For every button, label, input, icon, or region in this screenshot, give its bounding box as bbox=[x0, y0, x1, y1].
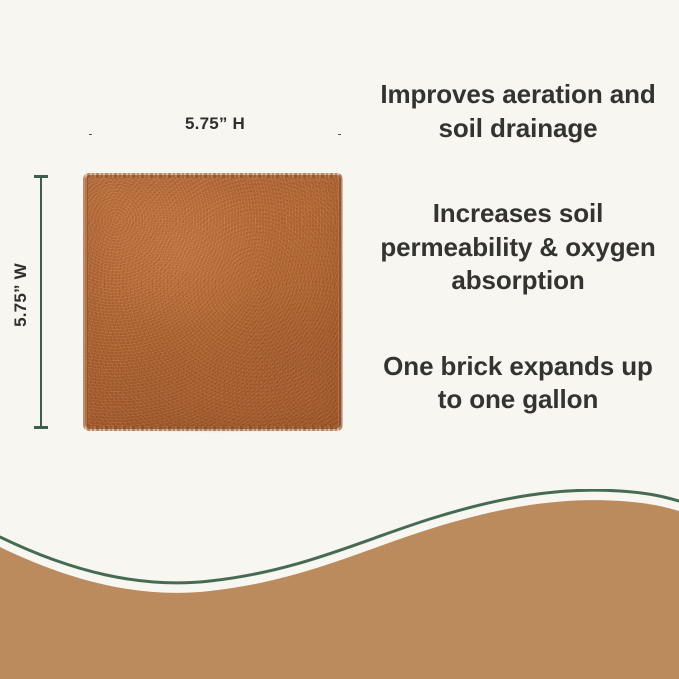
bottom-wave-divider bbox=[0, 489, 679, 679]
benefit-item-expansion-volume: One brick expands up to one gallon bbox=[368, 350, 668, 417]
benefit-item-aeration-drainage: Improves aeration and soil drainage bbox=[368, 78, 668, 145]
product-image-panel: 5.75” H 5.75” W bbox=[0, 0, 360, 520]
benefit-item-permeability-oxygen: Increases soil permeability & oxygen abs… bbox=[368, 197, 668, 298]
vertical-dimension-cap-top bbox=[34, 175, 48, 178]
vertical-dimension-label-text: 5.75” W bbox=[11, 254, 30, 336]
wave-fill-shape bbox=[0, 500, 679, 679]
vertical-dimension-label: 5.75” W bbox=[11, 225, 31, 365]
horizontal-dimension-label-text: 5.75” H bbox=[176, 114, 254, 133]
brick-drop-shadow bbox=[89, 423, 337, 433]
vertical-dimension-cap-bottom bbox=[34, 426, 48, 429]
vertical-dimension-line bbox=[40, 176, 42, 428]
product-infographic: 5.75” H 5.75” W Improves aeration and so… bbox=[0, 0, 679, 679]
horizontal-dimension-label: 5.75” H bbox=[0, 114, 430, 134]
coco-coir-brick-image bbox=[85, 175, 341, 429]
benefits-list: Improves aeration and soil drainage Incr… bbox=[368, 78, 668, 417]
brick-texture-grain bbox=[85, 175, 341, 429]
